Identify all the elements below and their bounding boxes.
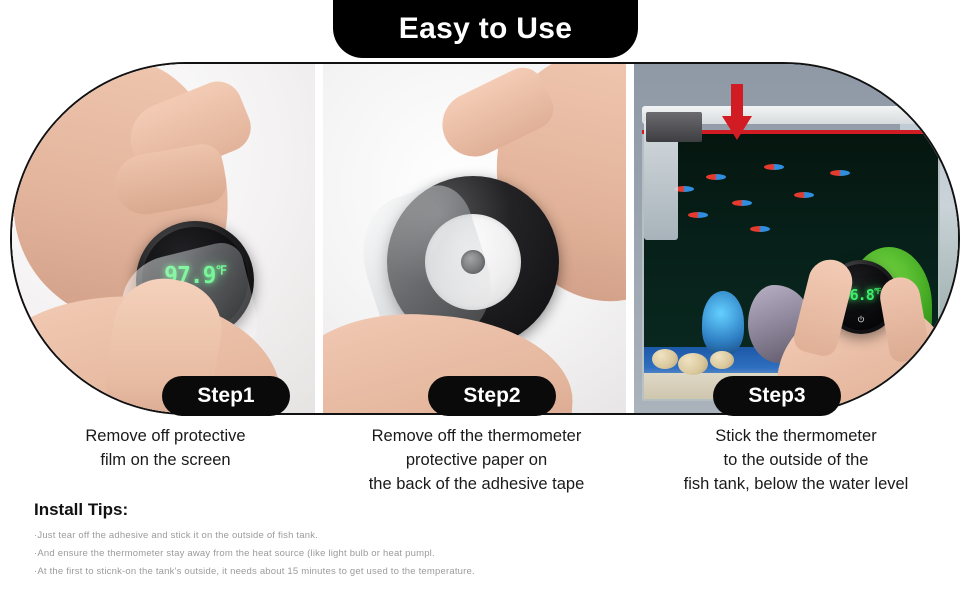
red-arrow-icon — [722, 84, 752, 140]
caption-line: film on the screen — [10, 448, 321, 472]
step1-badge: Step1 — [162, 376, 290, 416]
tip-line: ·At the first to sticnk-on the tank's ou… — [34, 563, 734, 581]
step2-caption: Remove off the thermometer protective pa… — [321, 424, 632, 496]
caption-line: Remove off the thermometer — [321, 424, 632, 448]
panel-divider — [315, 64, 323, 413]
captions-row: Remove off protective film on the screen… — [10, 424, 960, 496]
step1-caption: Remove off protective film on the screen — [10, 424, 321, 496]
fish — [764, 164, 784, 170]
fish — [706, 174, 726, 180]
fish — [830, 170, 850, 176]
caption-line: fish tank, below the water level — [632, 472, 960, 496]
tip-line: ·Just tear off the adhesive and stick it… — [34, 527, 734, 545]
pebble — [652, 349, 678, 369]
page-title: Easy to Use — [399, 14, 572, 44]
fish — [750, 226, 770, 232]
photo-frame: 97.9℉ — [10, 62, 960, 415]
caption-line: to the outside of the — [632, 448, 960, 472]
tip-line: ·And ensure the thermometer stay away fr… — [34, 545, 734, 563]
install-tips-title: Install Tips: — [34, 500, 734, 520]
power-icon — [857, 311, 866, 320]
pebble — [710, 351, 734, 369]
step2-badge-label: Step2 — [463, 384, 520, 408]
step1-badge-label: Step1 — [197, 384, 254, 408]
step3-badge-label: Step3 — [748, 384, 805, 408]
step3-badge: Step3 — [713, 376, 841, 416]
fish — [794, 192, 814, 198]
caption-line: Remove off protective — [10, 424, 321, 448]
step2-badge: Step2 — [428, 376, 556, 416]
aquarium-plant — [702, 291, 744, 355]
pebble — [678, 353, 708, 375]
step2-photo — [323, 64, 626, 413]
install-tips: Install Tips: ·Just tear off the adhesiv… — [34, 500, 734, 581]
infographic-page: Easy to Use 97.9℉ — [0, 0, 970, 600]
step1-photo: 97.9℉ — [12, 64, 315, 413]
caption-line: protective paper on — [321, 448, 632, 472]
fish — [732, 200, 752, 206]
title-banner: Easy to Use — [333, 0, 638, 58]
fish — [688, 212, 708, 218]
step3-caption: Stick the thermometer to the outside of … — [632, 424, 960, 496]
caption-line: the back of the adhesive tape — [321, 472, 632, 496]
tank-filter-box — [646, 112, 702, 142]
caption-line: Stick the thermometer — [632, 424, 960, 448]
step3-photo: 96.8℉ — [634, 64, 958, 413]
panel-divider — [626, 64, 634, 413]
